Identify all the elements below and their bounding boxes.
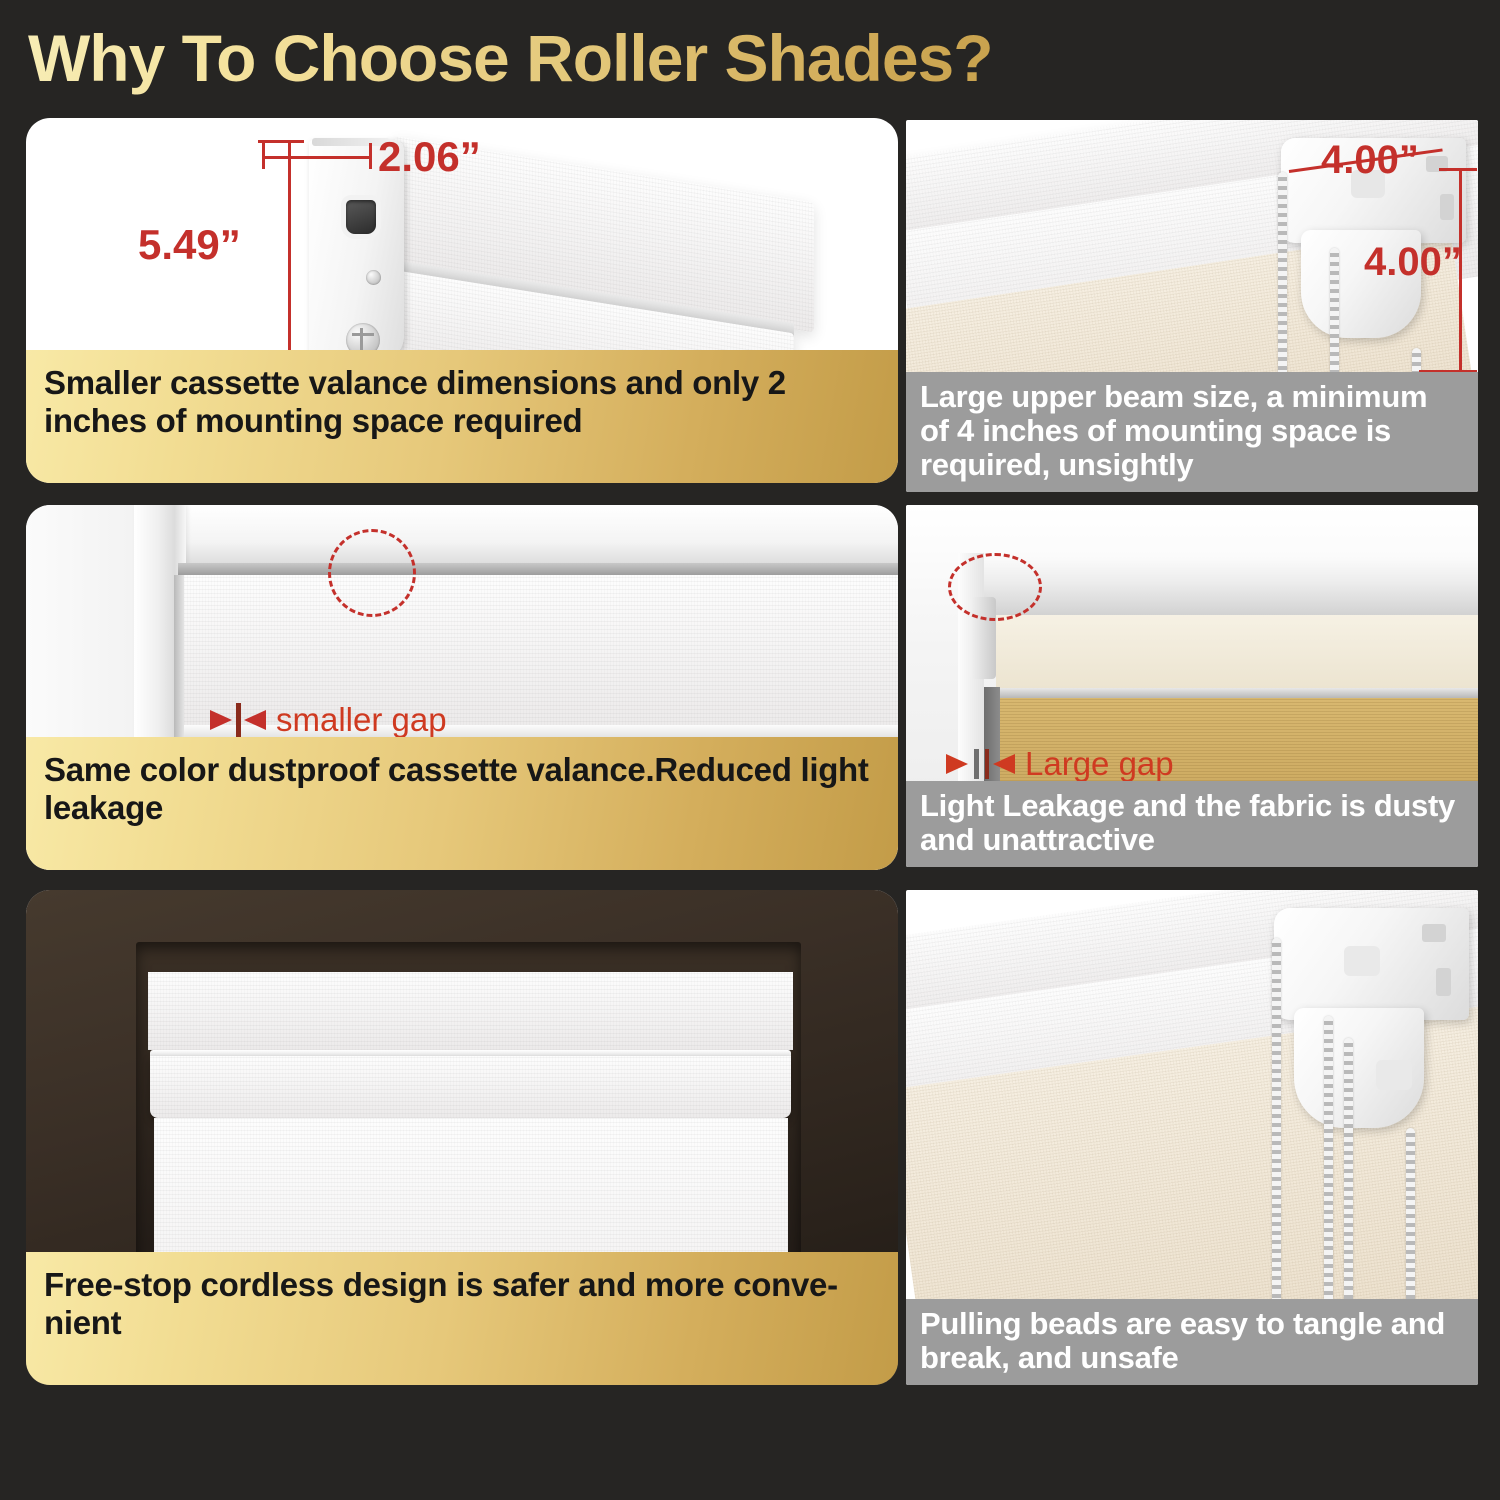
panel-pro-dustproof-valance: smaller gap Same color dustproof cassett… [26,505,898,870]
bracket-notch [1436,968,1451,996]
valance-front [150,1056,791,1118]
arrow-left-icon [993,754,1015,774]
bracket-logo [1344,946,1380,976]
panel-con-light-leakage: Large gap Light Leakage and the fabric i… [906,505,1478,867]
gap-label: Large gap [1025,745,1174,783]
panel-caption-pro-dustproof-valance: Same color dustproof cassette valance.Re… [26,737,898,870]
window-head-trim [166,505,898,567]
panel-con-large-upper-beam: 4.00” 4.00” Large upper beam size, a min… [906,120,1478,492]
panel-pro-cassette-dimensions: 2.06” 5.49” Smaller cassette valance dim… [26,118,898,483]
bracket-logo [1376,1060,1412,1090]
dimension-label-height: 4.00” [1364,240,1462,285]
roller-tube [968,557,1478,619]
dimension-label-height: 5.49” [138,221,241,269]
gap-annotation-large: Large gap [946,745,1174,783]
dim-tick [1439,168,1477,171]
panel-caption-pro-cordless-design: Free-stop cordless design is safer and m… [26,1252,898,1385]
gap-marker [985,749,989,779]
dim-line-height [288,140,291,355]
dim-tick [258,140,304,143]
gap-marker [236,703,241,737]
panel-caption-con-pulling-beads: Pulling beads are easy to tangle and bre… [906,1299,1478,1385]
panel-caption-pro-cassette-dimensions: Smaller cassette valance dimensions and … [26,350,898,483]
arrow-right-icon [210,710,232,730]
dim-tick [262,143,265,169]
bracket-notch [1422,924,1446,942]
infographic-root: Why To Choose Roller Shades? 2.06” 5.49”… [0,0,1500,1500]
cream-fabric-roll [996,615,1478,690]
arrow-left-icon [244,710,266,730]
highlight-circle-icon [948,553,1042,621]
dim-tick [369,143,372,169]
panel-caption-con-light-leakage: Light Leakage and the fabric is dusty an… [906,781,1478,867]
gap-marker [974,749,979,779]
highlight-circle-icon [328,529,416,617]
fabric-edge-highlight [996,688,1478,698]
arrow-right-icon [946,754,968,774]
gap-label: smaller gap [276,701,447,739]
page-title: Why To Choose Roller Shades? [28,18,1128,98]
panel-con-pulling-beads: Pulling beads are easy to tangle and bre… [906,890,1478,1385]
bracket-notch [1440,194,1454,220]
gap-annotation-smaller: smaller gap [210,701,447,739]
cassette-headrail [148,972,793,1050]
panel-pro-cordless-design: Free-stop cordless design is safer and m… [26,890,898,1385]
panel-caption-con-large-upper-beam: Large upper beam size, a minimum of 4 in… [906,372,1478,492]
dimension-label-width: 4.00” [1321,138,1419,183]
mechanism-slot [346,200,376,234]
dim-line-width [262,156,372,159]
screw-icon [366,270,381,285]
cassette-valance-edge [178,563,898,575]
dimension-label-width: 2.06” [378,133,481,181]
